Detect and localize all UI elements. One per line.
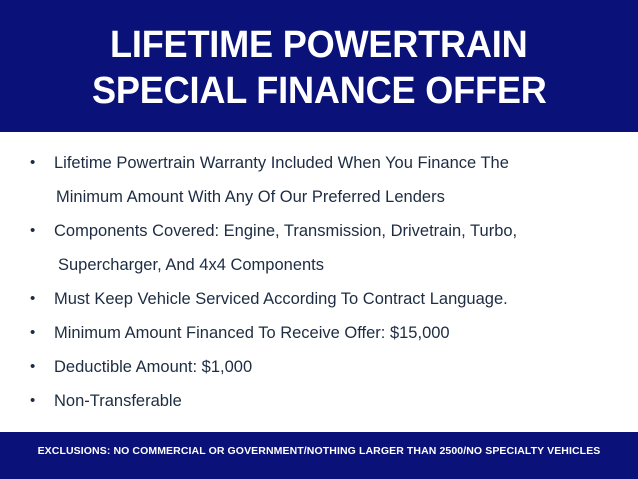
bullet-text-line-2: Supercharger, And 4x4 Components — [54, 248, 616, 282]
bullet-icon: • — [30, 282, 42, 316]
list-item: • Components Covered: Engine, Transmissi… — [22, 214, 616, 282]
bullet-list: • Lifetime Powertrain Warranty Included … — [22, 146, 616, 418]
bullet-text: Must Keep Vehicle Serviced According To … — [54, 282, 616, 316]
bullet-icon: • — [30, 350, 42, 384]
title-line-2: SPECIAL FINANCE OFFER — [92, 68, 547, 114]
list-item: • Must Keep Vehicle Serviced According T… — [22, 282, 616, 316]
offer-details: • Lifetime Powertrain Warranty Included … — [0, 132, 638, 432]
bullet-text-line-2: Minimum Amount With Any Of Our Preferred… — [54, 180, 616, 214]
bullet-icon: • — [30, 316, 42, 350]
title-line-1: LIFETIME POWERTRAIN — [110, 22, 528, 68]
bullet-text: Components Covered: Engine, Transmission… — [54, 214, 616, 282]
bullet-text: Deductible Amount: $1,000 — [54, 350, 616, 384]
offer-slide: LIFETIME POWERTRAIN SPECIAL FINANCE OFFE… — [0, 0, 638, 479]
list-item: • Non-Transferable — [22, 384, 616, 418]
bullet-icon: • — [30, 384, 42, 418]
bullet-text: Lifetime Powertrain Warranty Included Wh… — [54, 146, 616, 214]
list-item: • Minimum Amount Financed To Receive Off… — [22, 316, 616, 350]
bullet-text: Minimum Amount Financed To Receive Offer… — [54, 316, 616, 350]
list-item: • Lifetime Powertrain Warranty Included … — [22, 146, 616, 214]
exclusions-disclaimer: EXCLUSIONS: NO COMMERCIAL OR GOVERNMENT/… — [0, 445, 638, 457]
bullet-text-line-1: Components Covered: Engine, Transmission… — [54, 222, 517, 240]
bullet-text-line-1: Lifetime Powertrain Warranty Included Wh… — [54, 154, 509, 172]
bullet-icon: • — [30, 214, 42, 248]
footer-banner: EXCLUSIONS: NO COMMERCIAL OR GOVERNMENT/… — [0, 432, 638, 479]
bullet-icon: • — [30, 146, 42, 180]
bullet-text: Non-Transferable — [54, 384, 616, 418]
list-item: • Deductible Amount: $1,000 — [22, 350, 616, 384]
header-banner: LIFETIME POWERTRAIN SPECIAL FINANCE OFFE… — [0, 0, 638, 132]
